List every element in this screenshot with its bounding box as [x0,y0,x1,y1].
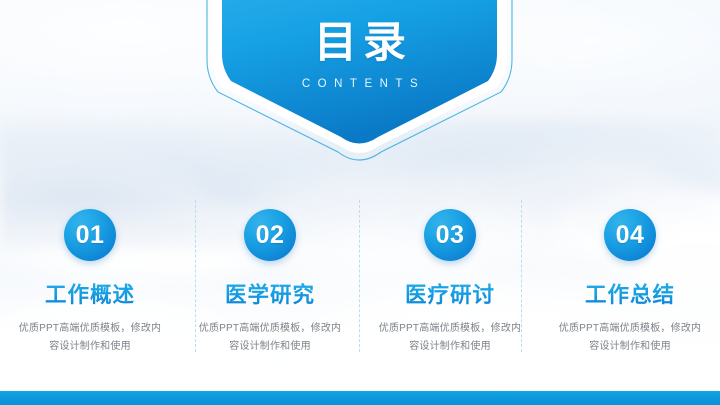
content-item-01[interactable]: 01 工作概述 优质PPT高端优质模板，修改内容设计制作和使用 [0,196,180,356]
number-badge-03[interactable]: 03 [424,209,476,261]
bottom-accent-bar [0,391,720,405]
badge-title: 目录 [222,22,498,65]
slide-canvas: 目录 CONTENTS 01 工作概述 优质PPT高端优质模板，修改内容设计制作… [0,0,720,405]
contents-columns: 01 工作概述 优质PPT高端优质模板，修改内容设计制作和使用 02 医学研究 … [0,196,720,356]
number-label: 03 [436,223,465,248]
contents-badge: 目录 CONTENTS [0,0,720,180]
badge-subtitle: CONTENTS [222,78,498,90]
number-label: 02 [256,223,285,248]
item-description: 优质PPT高端优质模板，修改内容设计制作和使用 [14,320,166,355]
content-item-04[interactable]: 04 工作总结 优质PPT高端优质模板，修改内容设计制作和使用 [540,196,720,356]
item-description: 优质PPT高端优质模板，修改内容设计制作和使用 [194,320,346,355]
item-description: 优质PPT高端优质模板，修改内容设计制作和使用 [374,320,526,355]
item-title: 工作概述 [45,278,135,309]
number-badge-04[interactable]: 04 [604,209,656,261]
content-item-02[interactable]: 02 医学研究 优质PPT高端优质模板，修改内容设计制作和使用 [180,196,360,356]
item-title: 工作总结 [585,278,675,309]
number-label: 01 [76,223,105,248]
item-title: 医学研究 [225,278,315,309]
number-label: 04 [616,223,645,248]
number-badge-01[interactable]: 01 [64,209,116,261]
number-badge-02[interactable]: 02 [244,209,296,261]
item-description: 优质PPT高端优质模板，修改内容设计制作和使用 [554,320,706,355]
item-title: 医疗研讨 [405,278,495,309]
content-item-03[interactable]: 03 医疗研讨 优质PPT高端优质模板，修改内容设计制作和使用 [360,196,540,356]
